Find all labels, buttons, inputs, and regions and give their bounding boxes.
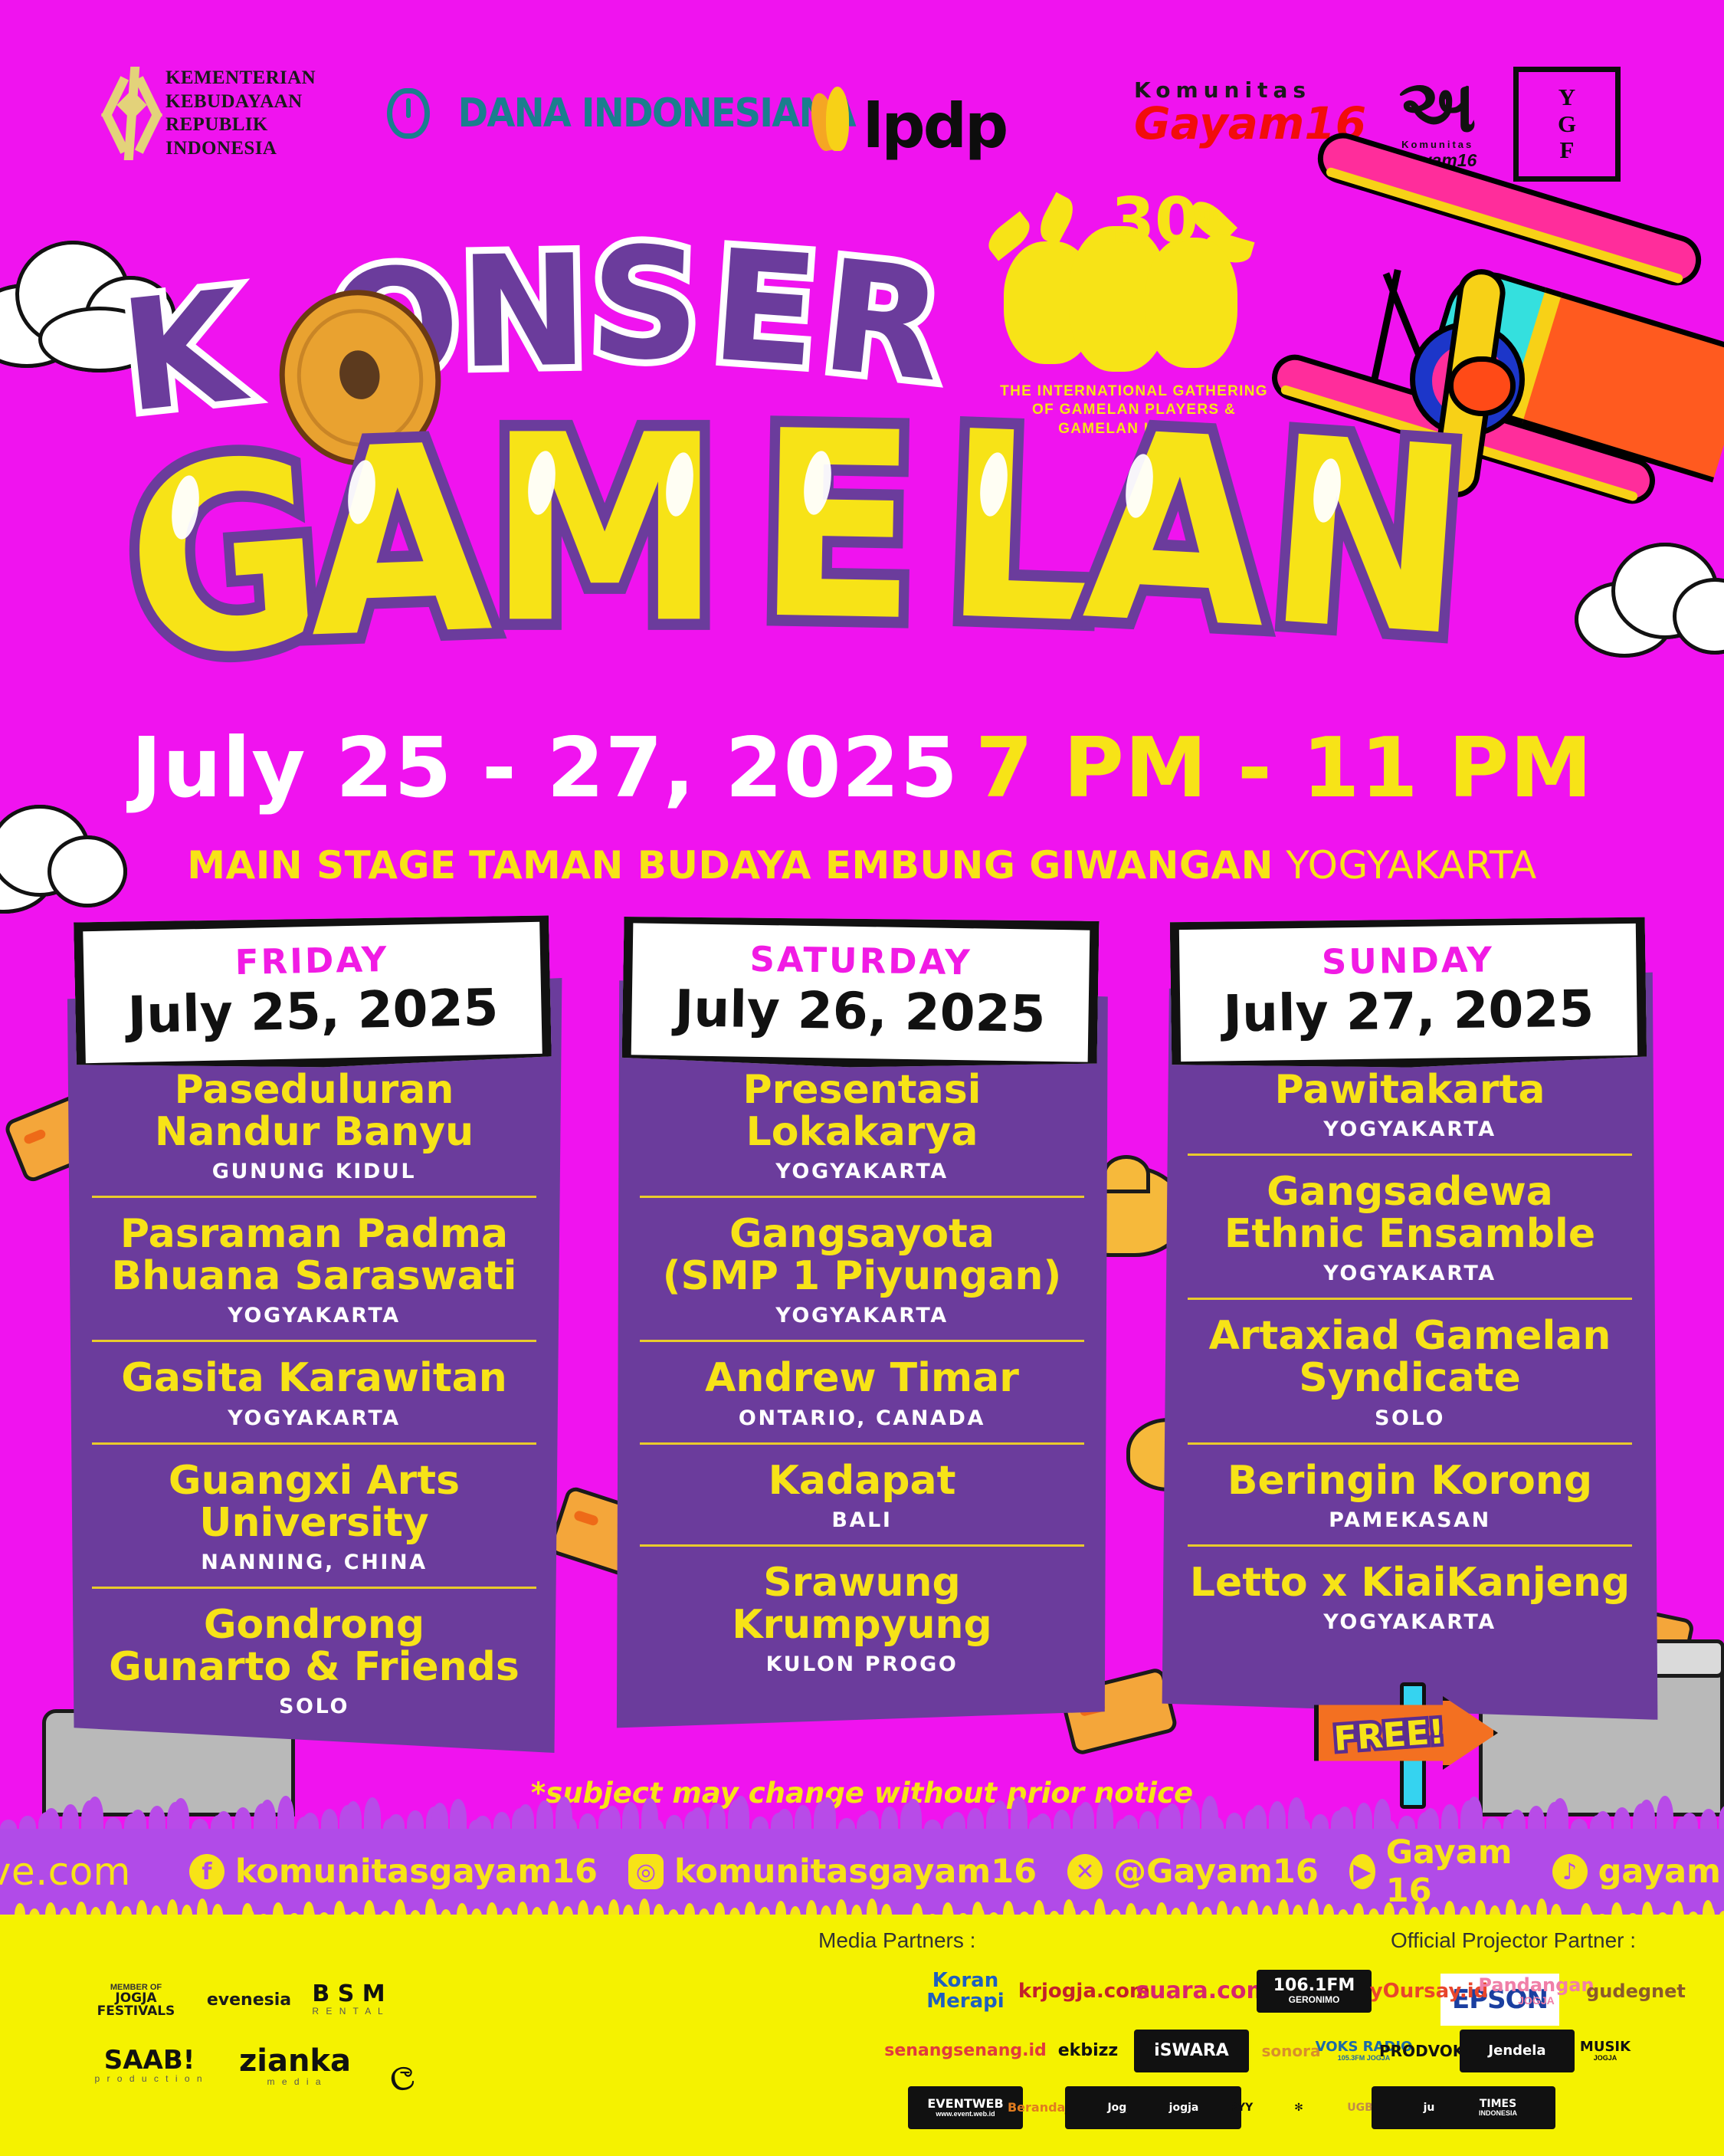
act-row: SrawungKrumpyung KULON PROGO xyxy=(640,1544,1084,1688)
act-row: Gangsayota(SMP 1 Piyungan) YOGYAKARTA xyxy=(640,1196,1084,1340)
act-city: GUNUNG KIDUL xyxy=(92,1160,536,1183)
act-row: Andrew Timar ONTARIO, CANADA xyxy=(640,1340,1084,1442)
gamelan-letter-n: N xyxy=(1261,402,1475,673)
act-row: Letto x KiaiKanjeng YOGYAKARTA xyxy=(1188,1544,1632,1646)
kementerian-line-3: REPUBLIK xyxy=(166,113,316,137)
x-icon: ✕ xyxy=(1067,1854,1103,1889)
act-name: GondrongGunarto & Friends xyxy=(92,1604,536,1688)
day-date: July 26, 2025 xyxy=(631,980,1089,1043)
x-handle: @Gayam16 xyxy=(1113,1852,1319,1891)
act-name: Beringin Korong xyxy=(1188,1460,1632,1502)
day-header-friday: FRIDAY July 25, 2025 xyxy=(74,913,552,1073)
logo-ygf-box: Y G F xyxy=(1513,67,1621,182)
act-name: Letto x KiaiKanjeng xyxy=(1188,1562,1632,1604)
act-name: Gasita Karawitan xyxy=(92,1357,536,1400)
kementerian-wordmark: KEMENTERIAN KEBUDAYAAN REPUBLIK INDONESI… xyxy=(166,67,316,160)
media-partner-logo: Koran Merapi xyxy=(908,1970,1023,2013)
gayam-mark-sub-1: Komunitas xyxy=(1398,139,1477,150)
media-partner-logo: gudegnet xyxy=(1578,1970,1693,2013)
act-row: Pawitakarta YOGYAKARTA xyxy=(1188,1054,1632,1153)
media-partner-logo: iSWARA xyxy=(1134,2030,1249,2072)
act-row: PresentasiLokakarya YOGYAKARTA xyxy=(640,1054,1084,1196)
date-line: July 25 - 27, 20257 PM - 11 PM xyxy=(0,720,1724,816)
instagram-icon: ◎ xyxy=(628,1854,664,1889)
act-row: PaseduluranNandur Banyu GUNUNG KIDUL xyxy=(92,1054,536,1196)
act-name: Pawitakarta xyxy=(1188,1069,1632,1111)
gamelan-letter-e: E xyxy=(755,397,919,658)
title-gamelan: G A M E L A N xyxy=(130,429,1670,705)
act-name: Pasraman PadmaBhuana Saraswati xyxy=(92,1213,536,1298)
act-name: Guangxi ArtsUniversity xyxy=(92,1460,536,1544)
dana-wordmark: DANA INDONESIANA xyxy=(458,90,855,136)
media-partner-logo: 106.1FMGERONIMO xyxy=(1257,1970,1372,2013)
facebook-handle: komunitasgayam16 xyxy=(235,1852,598,1891)
gamelan-letter-g: G xyxy=(120,425,329,695)
gamelan-letter-m: M xyxy=(488,402,722,659)
venue-place: TAMAN BUDAYA EMBUNG GIWANGAN xyxy=(469,843,1273,888)
act-row: Pasraman PadmaBhuana Saraswati YOGYAKART… xyxy=(92,1196,536,1340)
dana-ring-icon xyxy=(387,88,430,139)
konser-letter-s: S xyxy=(588,227,703,384)
media-partners-label: Media Partners : xyxy=(818,1928,975,1953)
act-city: YOGYAKARTA xyxy=(1188,1610,1632,1634)
act-city: PAMEKASAN xyxy=(1188,1508,1632,1532)
act-row: Beringin Korong PAMEKASAN xyxy=(1188,1442,1632,1544)
tiktok-handle: gayam16 xyxy=(1598,1852,1724,1891)
website-link[interactable]: www.YGFLive.com xyxy=(0,1849,131,1894)
social-instagram[interactable]: ◎ komunitasgayam16 xyxy=(628,1852,1037,1891)
act-city: YOGYAKARTA xyxy=(1188,1117,1632,1141)
anniversary-value: 30 xyxy=(1111,185,1198,258)
logo-lpdp: lpdp xyxy=(812,87,1006,151)
sponsor-logo: ල xyxy=(375,2045,429,2099)
act-name: Kadapat xyxy=(640,1460,1084,1502)
act-city: BALI xyxy=(640,1508,1084,1532)
anniversary-number: 30th xyxy=(1111,185,1222,258)
media-partner-logo: yOursay.id xyxy=(1372,1970,1486,2013)
ygf-blob-mark: 30th xyxy=(996,195,1272,379)
gamelan-letter-l: L xyxy=(940,398,1099,661)
venue-line: MAIN STAGE TAMAN BUDAYA EMBUNG GIWANGAN … xyxy=(0,843,1724,888)
media-partner-logo: suara.com xyxy=(1146,1970,1260,2013)
act-row: Gasita Karawitan YOGYAKARTA xyxy=(92,1340,536,1442)
day-date: July 27, 2025 xyxy=(1180,981,1637,1043)
top-sponsor-strip: KEMENTERIAN KEBUDAYAAN REPUBLIK INDONESI… xyxy=(0,73,1724,180)
act-name: PresentasiLokakarya xyxy=(640,1069,1084,1153)
media-partner-logo: TIMESINDONESIA xyxy=(1440,2086,1555,2129)
gamelan-letter-a: A xyxy=(304,411,494,674)
time-range: 7 PM - 11 PM xyxy=(975,720,1593,816)
media-partner-logo: krjogja.com xyxy=(1027,1970,1142,2013)
ygf-letter-y: Y xyxy=(1558,84,1575,111)
act-name: Artaxiad GamelanSyndicate xyxy=(1188,1315,1632,1400)
lpdp-flame-icon xyxy=(812,87,857,151)
day-name: SATURDAY xyxy=(632,937,1090,984)
day-date: July 25, 2025 xyxy=(84,980,542,1045)
logo-kementerian-kebudayaan: KEMENTERIAN KEBUDAYAAN REPUBLIK INDONESI… xyxy=(107,67,316,160)
day-header-saturday: SATURDAY July 26, 2025 xyxy=(622,914,1100,1071)
konser-letter-n: N xyxy=(458,235,589,391)
act-city: YOGYAKARTA xyxy=(92,1406,536,1430)
social-x[interactable]: ✕ @Gayam16 xyxy=(1067,1852,1319,1891)
sponsor-logo: MEMBER OFJOGJAFESTIVALS xyxy=(96,1970,176,2031)
act-city: YOGYAKARTA xyxy=(640,1304,1084,1327)
day-header-sunday: SUNDAY July 27, 2025 xyxy=(1170,914,1647,1071)
sponsor-logo: SAAB!p r o d u c t i o n xyxy=(92,2043,207,2089)
act-row: Artaxiad GamelanSyndicate SOLO xyxy=(1188,1298,1632,1442)
act-city: SOLO xyxy=(92,1695,536,1718)
tiktok-icon: ♪ xyxy=(1552,1854,1588,1889)
concert-poster: KEMENTERIAN KEBUDAYAAN REPUBLIK INDONESI… xyxy=(0,0,1724,2156)
venue-prefix: MAIN STAGE xyxy=(187,843,456,888)
act-row: GangsadewaEthnic Ensamble YOGYAKARTA xyxy=(1188,1153,1632,1298)
venue-city: YOGYAKARTA xyxy=(1286,843,1536,888)
konser-letter-e: E xyxy=(707,229,822,389)
sponsor-logo: evenesia xyxy=(203,1977,295,2023)
act-city: YOGYAKARTA xyxy=(92,1304,536,1327)
act-city: YOGYAKARTA xyxy=(1188,1262,1632,1285)
gayam-aksara-icon: અ xyxy=(1398,73,1477,139)
kementerian-emblem-icon xyxy=(107,67,155,160)
ygf-letter-g: G xyxy=(1558,111,1576,138)
anniversary-suffix: th xyxy=(1198,203,1222,226)
free-label: FREE! xyxy=(1332,1712,1445,1759)
act-city: KULON PROGO xyxy=(640,1652,1084,1676)
act-city: YOGYAKARTA xyxy=(640,1160,1084,1183)
instagram-handle: komunitasgayam16 xyxy=(674,1852,1037,1891)
media-partner-logo: senangsenang.id xyxy=(908,2030,1023,2072)
sponsor-logo: ziankam e d i a xyxy=(230,2043,360,2090)
schedule-column-sunday: Pawitakarta YOGYAKARTA GangsadewaEthnic … xyxy=(1157,924,1663,1736)
ygf-letter-f: F xyxy=(1560,137,1575,164)
sponsor-logo: B S MR E N T A L xyxy=(295,1976,402,2023)
kementerian-line-1: KEMENTERIAN xyxy=(166,67,316,90)
act-name: GangsadewaEthnic Ensamble xyxy=(1188,1171,1632,1255)
kementerian-line-4: INDONESIA xyxy=(166,137,316,161)
schedule-column-friday: PaseduluranNandur Banyu GUNUNG KIDUL Pas… xyxy=(61,924,567,1761)
act-name: Andrew Timar xyxy=(640,1357,1084,1400)
act-name: Gangsayota(SMP 1 Piyungan) xyxy=(640,1213,1084,1298)
media-partner-logo: PandanganJOGJA xyxy=(1479,1970,1594,2013)
act-name: SrawungKrumpyung xyxy=(640,1562,1084,1646)
facebook-icon: f xyxy=(189,1854,225,1889)
gamelan-letter-a2: A xyxy=(1080,399,1274,665)
act-row: Kadapat BALI xyxy=(640,1442,1084,1544)
social-facebook[interactable]: f komunitasgayam16 xyxy=(189,1852,598,1891)
act-row: Guangxi ArtsUniversity NANNING, CHINA xyxy=(92,1442,536,1587)
kementerian-line-2: KEBUDAYAAN xyxy=(166,90,316,114)
act-city: ONTARIO, CANADA xyxy=(640,1406,1084,1430)
media-partner-logo: ekbizz xyxy=(1031,2030,1146,2072)
act-name: PaseduluranNandur Banyu xyxy=(92,1069,536,1153)
social-tiktok[interactable]: ♪ gayam16 xyxy=(1552,1852,1724,1891)
act-city: SOLO xyxy=(1188,1406,1632,1430)
lpdp-wordmark: lpdp xyxy=(863,102,1006,151)
day-name: SUNDAY xyxy=(1179,937,1637,984)
date-range: July 25 - 27, 2025 xyxy=(131,720,959,816)
logo-dana-indonesiana: DANA INDONESIANA xyxy=(387,88,872,139)
projector-partner-label: Official Projector Partner : xyxy=(1391,1928,1636,1953)
act-city: NANNING, CHINA xyxy=(92,1551,536,1574)
schedule-column-saturday: PresentasiLokakarya YOGYAKARTA Gangsayot… xyxy=(609,924,1115,1736)
act-row: GondrongGunarto & Friends SOLO xyxy=(92,1587,536,1731)
media-partner-logo: MUSIKJOGJA xyxy=(1548,2030,1663,2072)
youtube-icon: ▶ xyxy=(1349,1854,1375,1889)
